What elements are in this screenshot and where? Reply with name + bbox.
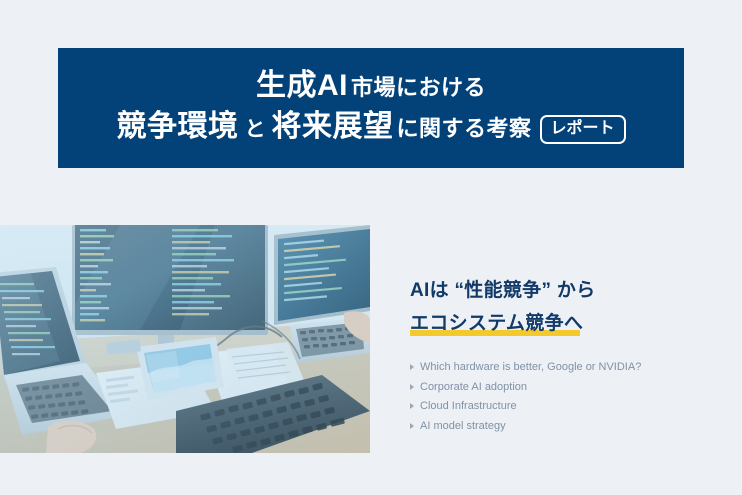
content-heading-line-2: エコシステム競争へ [410, 311, 583, 337]
list-item: AI model strategy [410, 418, 710, 435]
list-item-label: Cloud Infrastructure [420, 398, 517, 415]
workspace-photo [0, 225, 370, 453]
triangle-bullet-icon [410, 384, 414, 390]
banner-title-part-2: 将来展望 [271, 110, 393, 145]
banner-title-emphasis: 生成AI [256, 69, 348, 104]
list-item: Cloud Infrastructure [410, 398, 710, 415]
list-item-label: AI model strategy [420, 418, 506, 435]
content-column: AIは “性能競争” から エコシステム競争へ Which hardware i… [410, 278, 710, 451]
report-badge: レポート [540, 115, 626, 144]
triangle-bullet-icon [410, 423, 414, 429]
content-heading-line-2-text: エコシステム競争へ [410, 313, 583, 334]
list-item: Corporate AI adoption [410, 379, 710, 396]
title-banner: 生成AI 市場における 競争環境 と 将来展望 に関する考察 レポート [58, 48, 684, 168]
list-item-label: Which hardware is better, Google or NVID… [420, 359, 641, 376]
banner-title-part-1: 競争環境 [116, 110, 238, 145]
banner-title-line-1-rest: 市場における [351, 75, 486, 100]
banner-title-connector: と [244, 118, 265, 142]
list-item-label: Corporate AI adoption [420, 379, 527, 396]
topic-list: Which hardware is better, Google or NVID… [410, 359, 710, 435]
workspace-photo-illustration [0, 225, 370, 453]
banner-title-line-2-rest: に関する考察 [396, 116, 531, 141]
banner-title-line-1: 生成AI 市場における [256, 69, 486, 104]
content-heading-line-1: AIは “性能競争” から [410, 278, 710, 304]
triangle-bullet-icon [410, 403, 414, 409]
list-item: Which hardware is better, Google or NVID… [410, 359, 710, 376]
banner-title-line-2: 競争環境 と 将来展望 に関する考察 レポート [116, 110, 625, 147]
triangle-bullet-icon [410, 364, 414, 370]
